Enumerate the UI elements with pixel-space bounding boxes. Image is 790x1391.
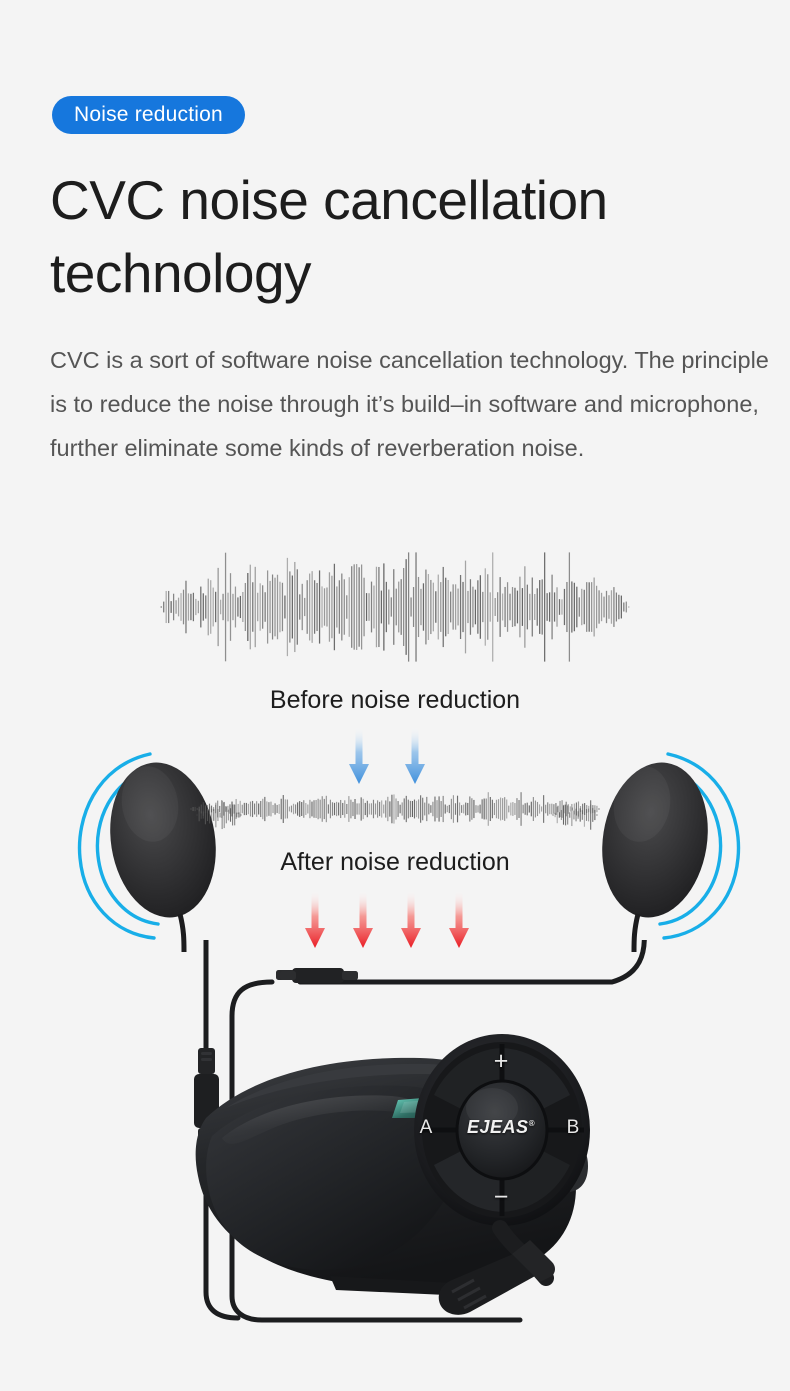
after-waveform bbox=[190, 786, 600, 832]
before-waveform-label: Before noise reduction bbox=[0, 686, 790, 715]
before-waveform-graphic bbox=[160, 552, 630, 662]
right-earpiece-speaker bbox=[570, 722, 760, 952]
control-keypad bbox=[414, 1034, 590, 1226]
after-waveform-label: After noise reduction bbox=[0, 848, 790, 877]
noise-reduction-badge: Noise reduction bbox=[52, 96, 245, 134]
left-earpiece-speaker bbox=[58, 722, 248, 952]
product-feature-page: Noise reduction CVC noise cancellation t… bbox=[0, 0, 790, 1391]
intercom-device-illustration bbox=[0, 940, 790, 1360]
blue-arrow-down-icon-1 bbox=[348, 726, 370, 786]
page-title: CVC noise cancellation technology bbox=[50, 164, 750, 310]
blue-arrow-down-icon-2 bbox=[404, 726, 426, 786]
before-waveform bbox=[160, 552, 630, 662]
after-waveform-graphic bbox=[190, 786, 600, 832]
description-paragraph: CVC is a sort of software noise cancella… bbox=[50, 338, 786, 471]
